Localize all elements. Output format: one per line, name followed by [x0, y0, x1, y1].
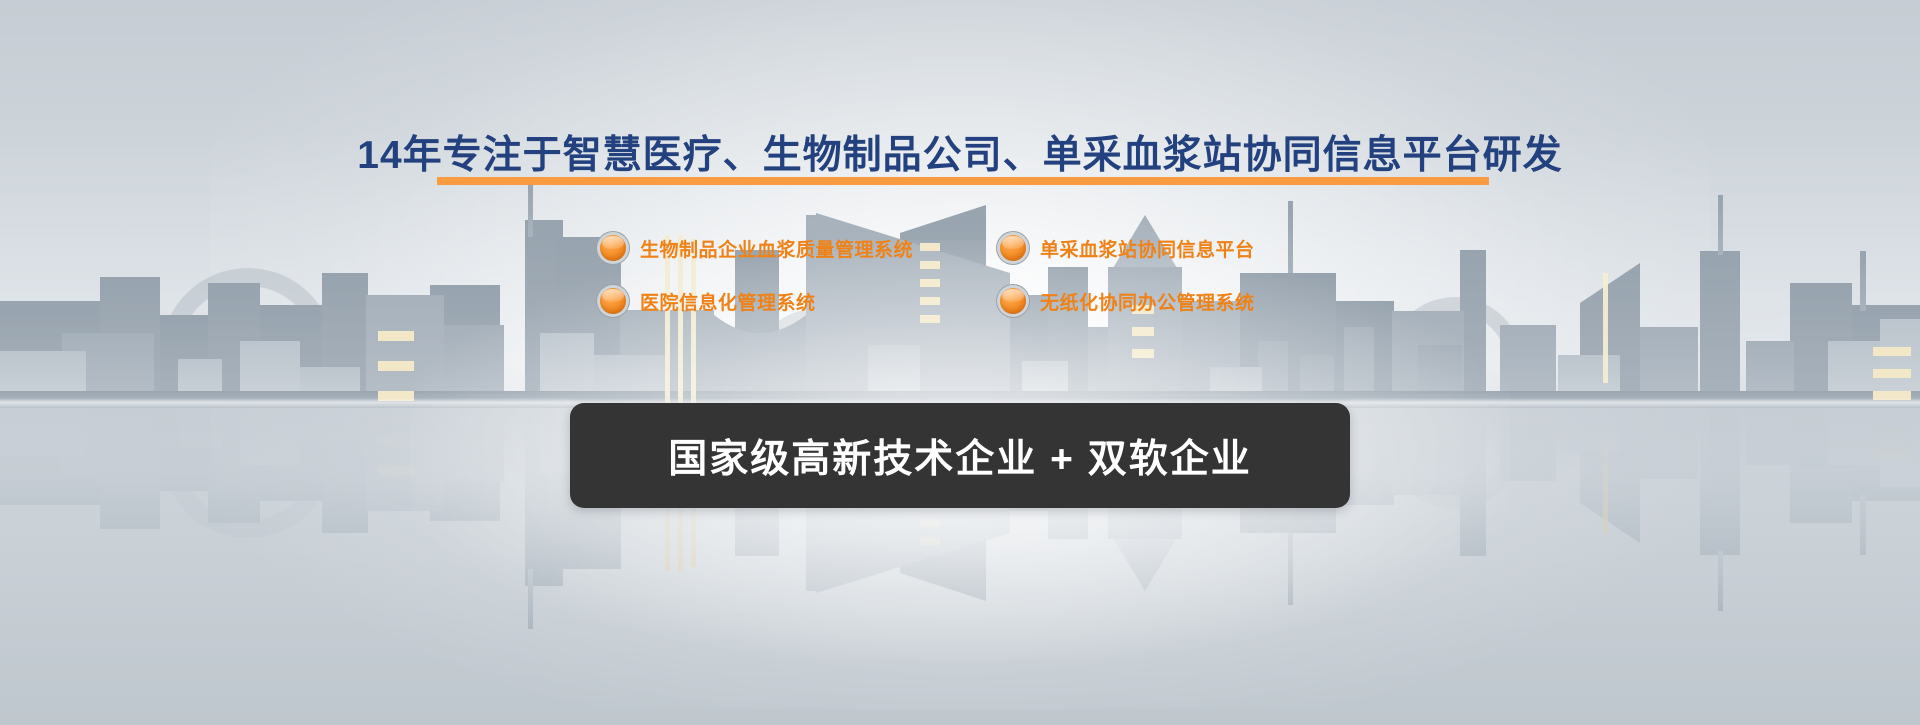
feature-row: 生物制品企业血浆质量管理系统 单采血浆站协同信息平台	[600, 232, 1340, 264]
orange-bullet-icon	[600, 288, 626, 314]
banner-headline: 14年专注于智慧医疗、生物制品公司、单采血浆站协同信息平台研发	[0, 124, 1920, 180]
orange-bullet-icon	[1000, 288, 1026, 314]
headline-underline	[437, 177, 1489, 185]
feature-label: 无纸化协同办公管理系统	[1040, 288, 1255, 315]
feature-row: 医院信息化管理系统 无纸化协同办公管理系统	[600, 285, 1340, 317]
certification-badge-text: 国家级高新技术企业 + 双软企业	[668, 428, 1251, 484]
feature-item-plasma-quality[interactable]: 生物制品企业血浆质量管理系统	[600, 232, 1000, 264]
feature-label: 单采血浆站协同信息平台	[1040, 235, 1255, 262]
feature-label: 生物制品企业血浆质量管理系统	[640, 235, 913, 262]
feature-item-hospital-info[interactable]: 医院信息化管理系统	[600, 285, 1000, 317]
hero-banner: 14年专注于智慧医疗、生物制品公司、单采血浆站协同信息平台研发 生物制品企业血浆…	[0, 0, 1920, 725]
feature-item-plasma-station[interactable]: 单采血浆站协同信息平台	[1000, 232, 1340, 264]
banner-content: 14年专注于智慧医疗、生物制品公司、单采血浆站协同信息平台研发 生物制品企业血浆…	[0, 0, 1920, 725]
certification-badge: 国家级高新技术企业 + 双软企业	[570, 403, 1350, 508]
feature-item-paperless-office[interactable]: 无纸化协同办公管理系统	[1000, 285, 1340, 317]
feature-label: 医院信息化管理系统	[640, 288, 816, 315]
orange-bullet-icon	[600, 235, 626, 261]
orange-bullet-icon	[1000, 235, 1026, 261]
feature-list: 生物制品企业血浆质量管理系统 单采血浆站协同信息平台 医院信息化管理系统 无纸化…	[600, 232, 1340, 317]
